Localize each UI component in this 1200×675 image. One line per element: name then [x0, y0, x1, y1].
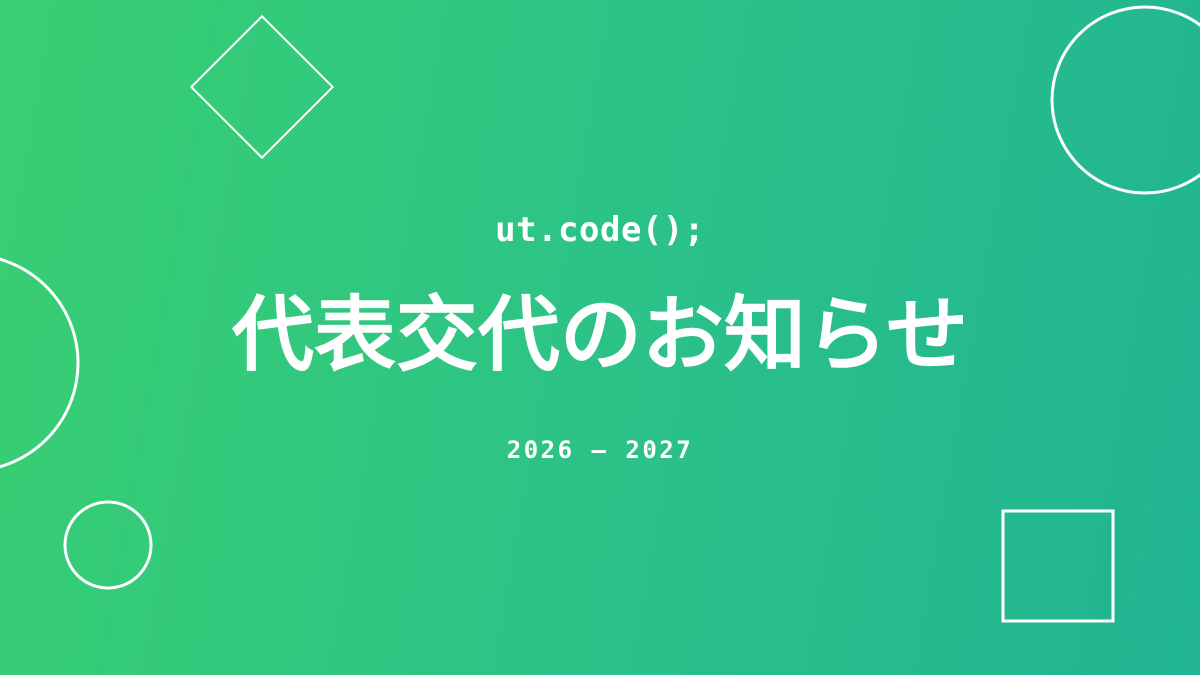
org-logo-text: ut.code();: [495, 213, 705, 247]
slide-content: ut.code(); 代表交代のお知らせ 2026 — 2027: [0, 0, 1200, 675]
slide-title: 代表交代のお知らせ: [232, 293, 968, 380]
slide-subtitle-term: 2026 — 2027: [507, 438, 693, 462]
title-slide: ut.code(); 代表交代のお知らせ 2026 — 2027: [0, 0, 1200, 675]
